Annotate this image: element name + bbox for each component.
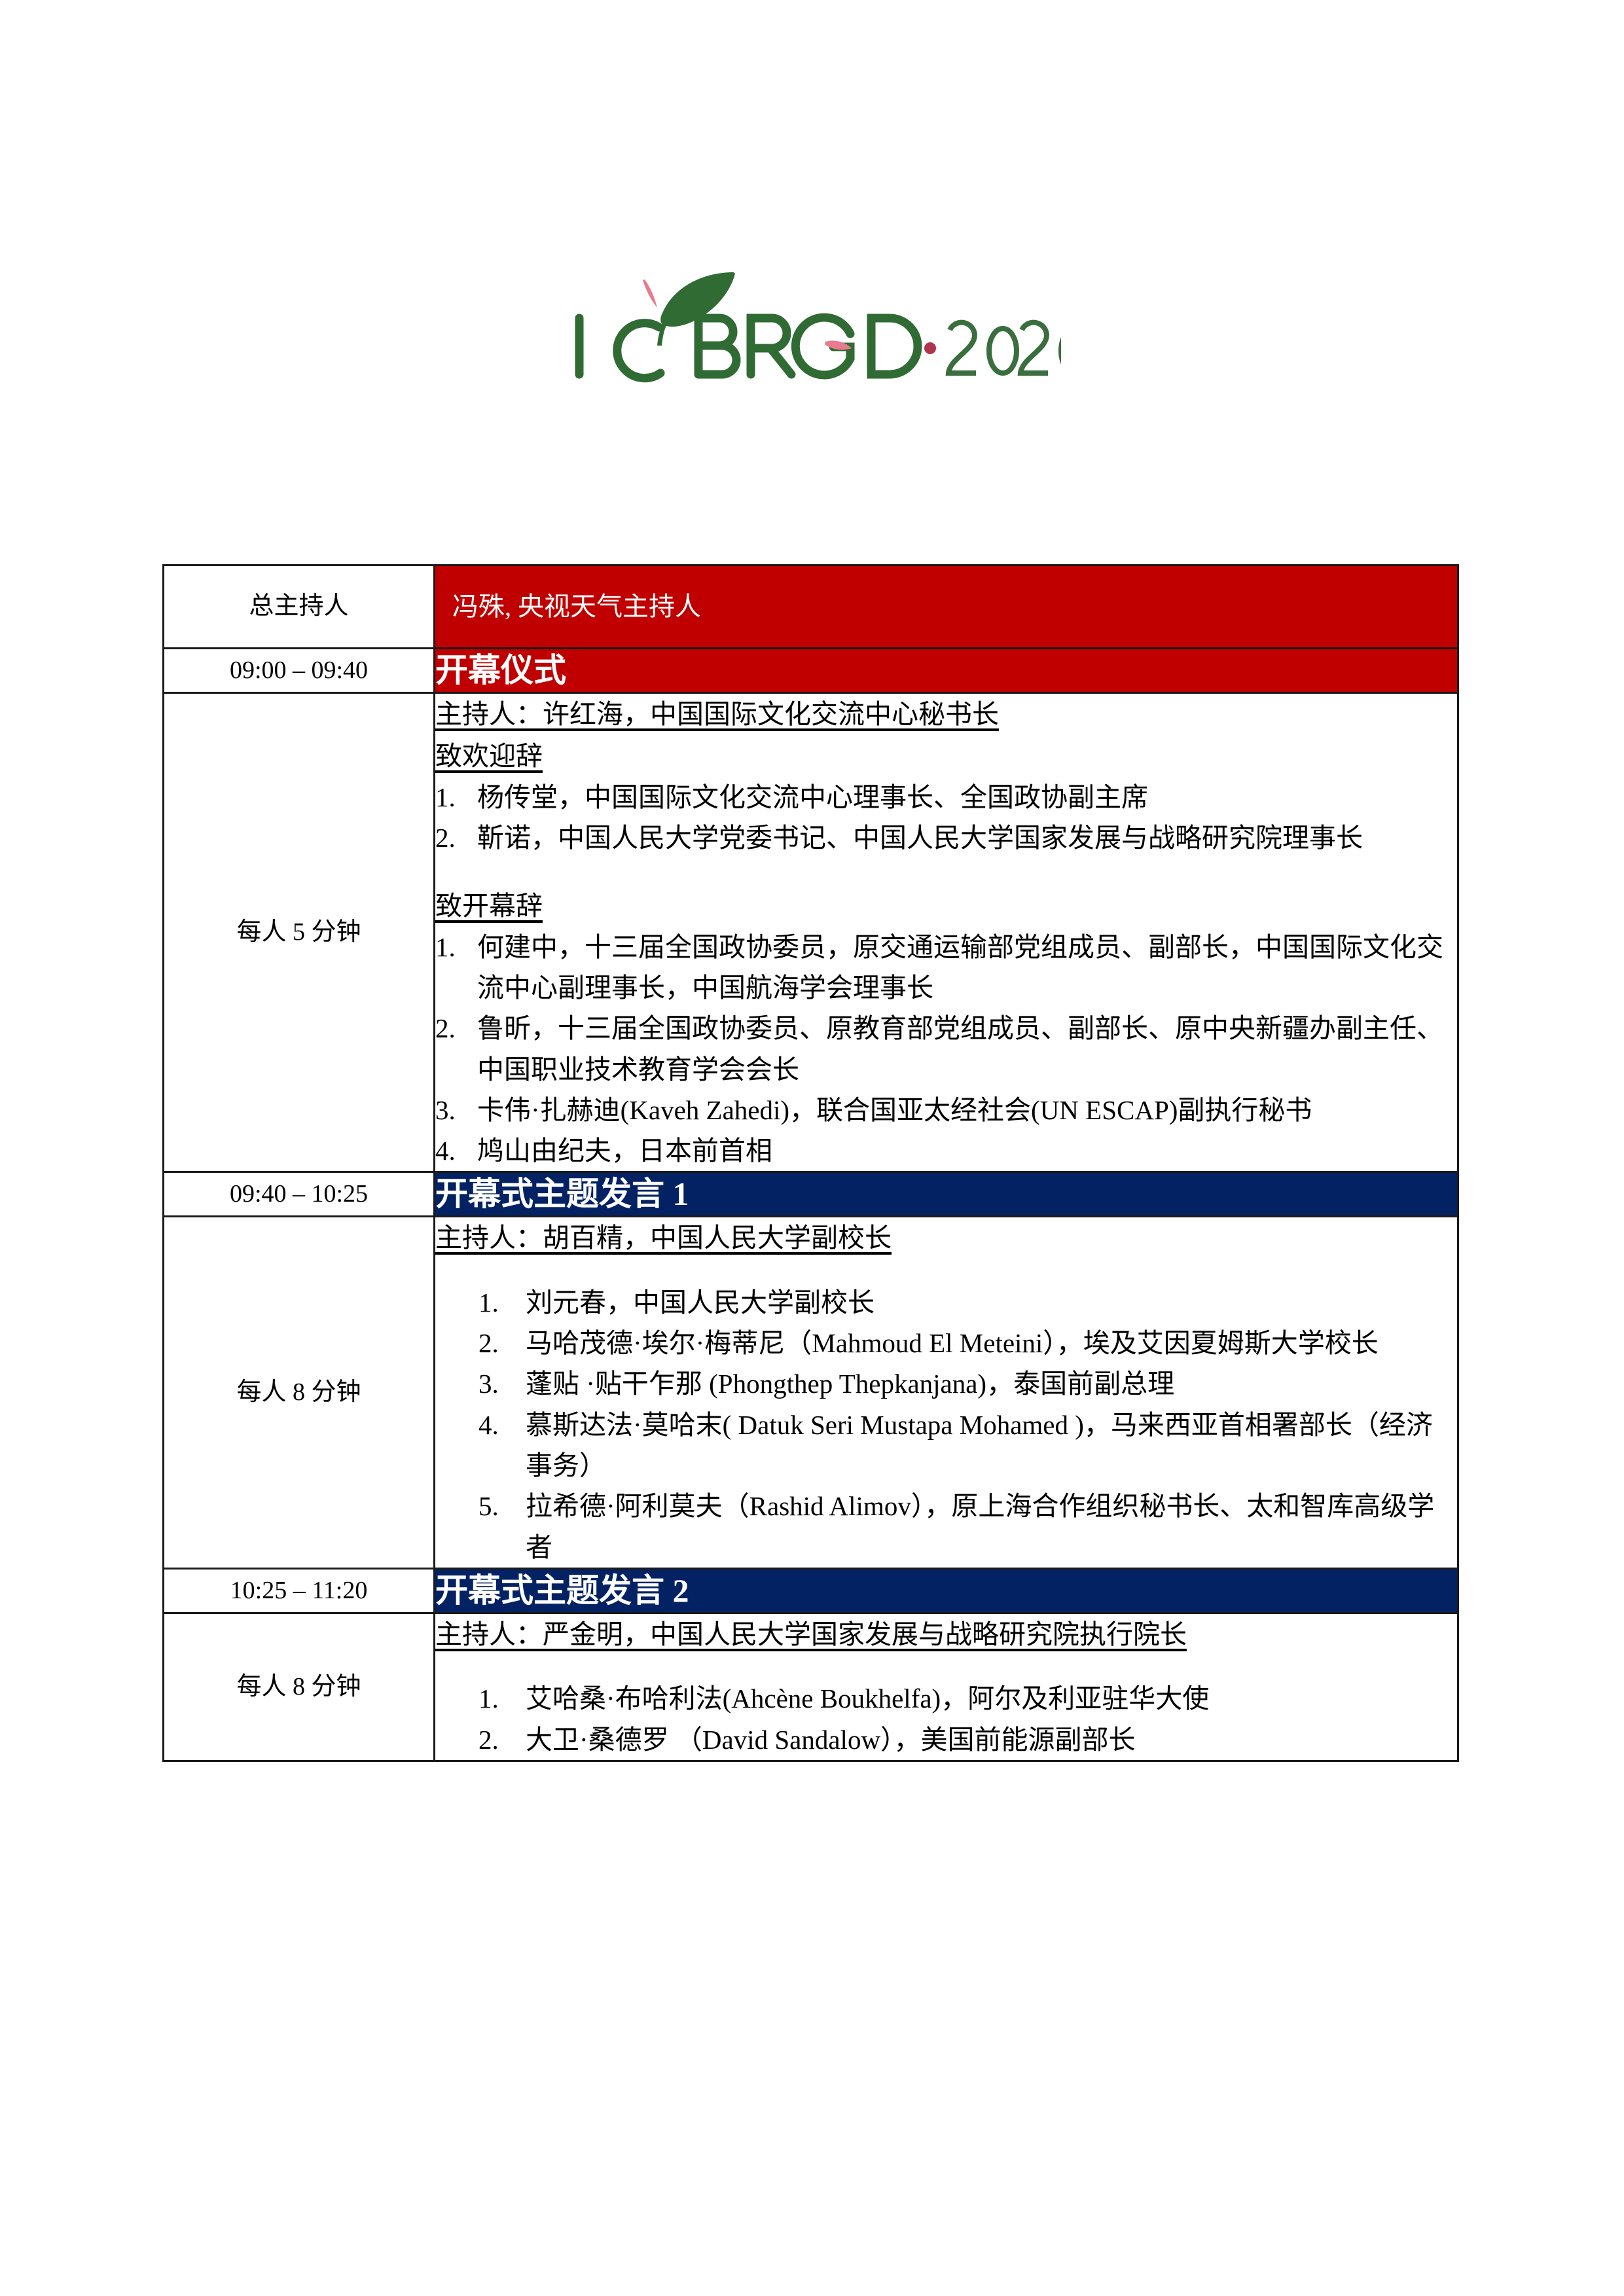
host-label-cell: 总主持人 [164, 565, 435, 649]
opening-time: 09:00 – 09:40 [230, 656, 368, 684]
list-item-text: 慕斯达法·莫哈末( Datuk Seri Mustapa Mohamed )，马… [526, 1410, 1433, 1480]
list-marker: 3. [478, 1363, 499, 1404]
keynote1-title: 开幕式主题发言 1 [435, 1175, 689, 1212]
keynote1-time-cell: 09:40 – 10:25 [164, 1172, 435, 1217]
keynote2-title: 开幕式主题发言 2 [435, 1572, 689, 1609]
host-label: 总主持人 [249, 592, 348, 620]
welcome-remarks-heading: 致欢迎辞 [435, 736, 1457, 776]
list-marker: 2. [435, 817, 456, 858]
list-item: 1. 何建中，十三届全国政协委员，原交通运输部党组成员、副部长，中国国际文化交流… [435, 927, 1457, 1009]
keynote1-duration-cell: 每人 8 分钟 [164, 1217, 435, 1569]
keynote2-time-cell: 10:25 – 11:20 [164, 1568, 435, 1613]
list-item-text: 杨传堂，中国国际文化交流中心理事长、全国政协副主席 [477, 782, 1148, 812]
logo-separator-dot [924, 342, 936, 354]
list-item: 1. 杨传堂，中国国际文化交流中心理事长、全国政协副主席 [435, 777, 1457, 817]
opening-duration: 每人 5 分钟 [236, 918, 361, 946]
list-item: 1. 艾哈桑·布哈利法(Ahcène Boukhelfa)，阿尔及利亚驻华大使 [478, 1678, 1457, 1719]
document-page: 总主持人 冯殊, 央视天气主持人 09:00 – 09:40 开幕仪式 每人 5… [0, 0, 1624, 2296]
logo-year [948, 323, 1061, 373]
list-item: 2. 大卫·桑德罗 （David Sandalow），美国前能源副部长 [478, 1719, 1457, 1760]
keynote2-duration-cell: 每人 8 分钟 [164, 1613, 435, 1761]
list-item-text: 刘元春，中国人民大学副校长 [526, 1287, 875, 1318]
list-item-text: 何建中，十三届全国政协委员，原交通运输部党组成员、副部长，中国国际文化交流中心副… [477, 932, 1443, 1003]
keynote2-title-cell: 开幕式主题发言 2 [435, 1568, 1458, 1613]
list-item: 5. 拉希德·阿利莫夫（Rashid Alimov），原上海合作组织秘书长、太和… [478, 1486, 1457, 1568]
list-marker: 1. [435, 777, 456, 817]
list-item: 3. 蓬贴 ·贴干乍那 (Phongthep Thepkanjana)，泰国前副… [478, 1363, 1457, 1404]
opening-remarks-heading: 致开幕辞 [435, 886, 1457, 926]
list-item-text: 鸠山由纪夫，日本前首相 [477, 1136, 772, 1166]
keynote1-speaker-list: 1. 刘元春，中国人民大学副校长 2. 马哈茂德·埃尔·梅蒂尼（Mahmoud … [435, 1282, 1457, 1568]
host-value: 冯殊, 央视天气主持人 [452, 592, 701, 621]
list-marker: 1. [478, 1678, 499, 1719]
list-item-text: 蓬贴 ·贴干乍那 (Phongthep Thepkanjana)，泰国前副总理 [526, 1369, 1174, 1399]
list-item-text: 卡伟·扎赫迪(Kaveh Zahedi)，联合国亚太经社会(UN ESCAP)副… [477, 1095, 1312, 1125]
list-item-text: 马哈茂德·埃尔·梅蒂尼（Mahmoud El Meteini），埃及艾因夏姆斯大… [526, 1328, 1379, 1358]
opening-title-cell: 开幕仪式 [435, 649, 1458, 693]
logo-pink-accent [825, 340, 852, 350]
list-item: 2. 靳诺，中国人民大学党委书记、中国人民大学国家发展与战略研究院理事长 [435, 817, 1457, 858]
list-marker: 2. [478, 1323, 499, 1363]
table-row: 10:25 – 11:20 开幕式主题发言 2 [164, 1568, 1458, 1613]
table-row: 每人 5 分钟 主持人：许红海，中国国际文化交流中心秘书长 致欢迎辞 1. 杨传… [164, 693, 1458, 1172]
keynote1-content-cell: 主持人：胡百精，中国人民大学副校长 1. 刘元春，中国人民大学副校长 2. 马哈… [435, 1217, 1458, 1569]
keynote1-duration: 每人 8 分钟 [236, 1378, 361, 1406]
list-item-text: 靳诺，中国人民大学党委书记、中国人民大学国家发展与战略研究院理事长 [477, 823, 1363, 853]
agenda-table: 总主持人 冯殊, 央视天气主持人 09:00 – 09:40 开幕仪式 每人 5… [162, 564, 1459, 1762]
list-item: 3. 卡伟·扎赫迪(Kaveh Zahedi)，联合国亚太经社会(UN ESCA… [435, 1090, 1457, 1130]
keynote2-host: 主持人：严金明，中国人民大学国家发展与战略研究院执行院长 [435, 1614, 1457, 1655]
opening-remarks-list: 1. 何建中，十三届全国政协委员，原交通运输部党组成员、副部长，中国国际文化交流… [435, 927, 1457, 1172]
list-marker: 1. [478, 1282, 499, 1323]
keynote1-title-cell: 开幕式主题发言 1 [435, 1172, 1458, 1217]
opening-host: 主持人：许红海，中国国际文化交流中心秘书长 [435, 694, 1457, 734]
list-item: 2. 鲁昕，十三届全国政协委员、原教育部党组成员、副部长、原中央新疆办副主任、中… [435, 1008, 1457, 1090]
list-item: 2. 马哈茂德·埃尔·梅蒂尼（Mahmoud El Meteini），埃及艾因夏… [478, 1323, 1457, 1363]
list-marker: 1. [435, 927, 456, 967]
table-row: 总主持人 冯殊, 央视天气主持人 [164, 565, 1458, 649]
welcome-remarks-list: 1. 杨传堂，中国国际文化交流中心理事长、全国政协副主席 2. 靳诺，中国人民大… [435, 777, 1457, 859]
list-item: 4. 慕斯达法·莫哈末( Datuk Seri Mustapa Mohamed … [478, 1405, 1457, 1486]
list-marker: 2. [435, 1008, 456, 1049]
keynote2-speaker-list: 1. 艾哈桑·布哈利法(Ahcène Boukhelfa)，阿尔及利亚驻华大使 … [435, 1678, 1457, 1760]
keynote2-content-cell: 主持人：严金明，中国人民大学国家发展与战略研究院执行院长 1. 艾哈桑·布哈利法… [435, 1613, 1458, 1761]
table-row: 每人 8 分钟 主持人：胡百精，中国人民大学副校长 1. 刘元春，中国人民大学副… [164, 1217, 1458, 1569]
list-marker: 3. [435, 1090, 456, 1130]
list-item-text: 拉希德·阿利莫夫（Rashid Alimov），原上海合作组织秘书长、太和智库高… [526, 1491, 1434, 1562]
list-marker: 4. [435, 1130, 456, 1171]
list-item-text: 大卫·桑德罗 （David Sandalow），美国前能源副部长 [526, 1725, 1136, 1755]
icbrgd-2020-logo-icon [564, 262, 1061, 393]
list-marker: 5. [478, 1486, 499, 1526]
table-row: 09:00 – 09:40 开幕仪式 [164, 649, 1458, 693]
opening-title: 开幕仪式 [435, 652, 566, 689]
table-row: 每人 8 分钟 主持人：严金明，中国人民大学国家发展与战略研究院执行院长 1. … [164, 1613, 1458, 1761]
keynote1-host: 主持人：胡百精，中国人民大学副校长 [435, 1217, 1457, 1258]
opening-time-cell: 09:00 – 09:40 [164, 649, 435, 693]
host-value-cell: 冯殊, 央视天气主持人 [435, 565, 1458, 649]
logo-wordmark [579, 317, 918, 378]
list-marker: 4. [478, 1405, 499, 1445]
table-row: 09:40 – 10:25 开幕式主题发言 1 [164, 1172, 1458, 1217]
conference-logo [0, 262, 1624, 396]
list-marker: 2. [478, 1719, 499, 1760]
list-item-text: 艾哈桑·布哈利法(Ahcène Boukhelfa)，阿尔及利亚驻华大使 [526, 1683, 1209, 1713]
logo-pink-petal [643, 279, 657, 308]
list-item: 1. 刘元春，中国人民大学副校长 [478, 1282, 1457, 1323]
list-item: 4. 鸠山由纪夫，日本前首相 [435, 1130, 1457, 1171]
opening-content-cell: 主持人：许红海，中国国际文化交流中心秘书长 致欢迎辞 1. 杨传堂，中国国际文化… [435, 693, 1458, 1172]
opening-duration-cell: 每人 5 分钟 [164, 693, 435, 1172]
keynote1-time: 09:40 – 10:25 [230, 1180, 368, 1208]
keynote2-duration: 每人 8 分钟 [236, 1673, 361, 1700]
keynote2-time: 10:25 – 11:20 [230, 1577, 368, 1604]
list-item-text: 鲁昕，十三届全国政协委员、原教育部党组成员、副部长、原中央新疆办副主任、中国职业… [477, 1013, 1443, 1084]
